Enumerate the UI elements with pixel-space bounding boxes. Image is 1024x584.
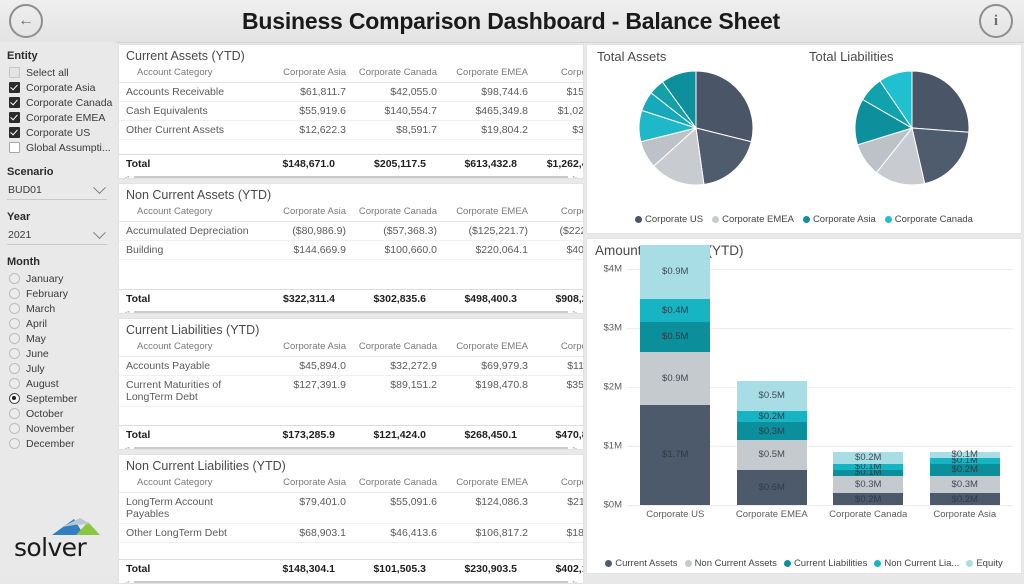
pie-legend-item[interactable]: Corporate EMEA	[712, 214, 794, 225]
table-total-cell: $230,903.5	[431, 560, 522, 579]
table-total-cell: Total	[119, 560, 249, 579]
table-cell: Current Maturities of LongTerm Debt	[119, 376, 260, 407]
bar-chart-legend: Current AssetsNon Current AssetsCurrent …	[587, 558, 1021, 569]
bar-legend-item[interactable]: Current Liabilities	[784, 558, 867, 569]
table-total-cell: $302,835.6	[340, 290, 431, 309]
legend-label: Corporate Canada	[895, 214, 973, 225]
table-cell: Accounts Payable	[119, 357, 260, 376]
table-cell: $186,981.7	[533, 524, 583, 543]
entity-option-corporate-emea[interactable]: Corporate EMEA	[9, 110, 116, 125]
table-cell: Accumulated Depreciation	[119, 222, 260, 241]
horizontal-scrollbar[interactable]: ◁▷	[119, 444, 583, 450]
radio-icon[interactable]	[9, 438, 20, 449]
entity-option-label: Select all	[26, 67, 69, 79]
pie-legend-item[interactable]: Corporate US	[635, 214, 703, 225]
table-cell: $98,744.6	[442, 83, 533, 102]
column-header[interactable]: Corporate US	[533, 475, 583, 493]
table-header-row: Account CategoryCorporate AsiaCorporate …	[119, 339, 583, 357]
bar-stack[interactable]: $0.2M$0.3M$0.1M$0.1M$0.2M	[833, 269, 903, 505]
month-option-label: May	[26, 333, 46, 345]
pie-legend-item[interactable]: Corporate Canada	[885, 214, 973, 225]
column-header[interactable]: Corporate Canada	[351, 65, 442, 83]
gridline	[627, 505, 1013, 506]
table-total-row: Total$322,311.4$302,835.6$498,400.3$908,…	[119, 290, 584, 309]
table-total-cell: $173,285.9	[249, 426, 340, 445]
table-total-cell: $402,193.3	[522, 560, 584, 579]
table-cell: $151,845.3	[533, 83, 583, 102]
table-total-cell: $101,505.3	[340, 560, 431, 579]
table-cell: $8,591.7	[351, 121, 442, 140]
total-assets-pie[interactable]	[639, 71, 753, 188]
data-table[interactable]: Account CategoryCorporate AsiaCorporate …	[119, 65, 583, 140]
month-option-january[interactable]: January	[9, 271, 116, 286]
filter-sidebar: Entity Select all Corporate Asia Corpora…	[0, 42, 116, 576]
entity-option-corporate-asia[interactable]: Corporate Asia	[9, 80, 116, 95]
table-total-cell: Total	[119, 155, 249, 174]
table-total-cell: Total	[119, 426, 249, 445]
table-card-1: Non Current Assets (YTD)Account Category…	[118, 183, 584, 314]
bar-legend-item[interactable]: Non Current Lia...	[874, 558, 959, 569]
table-row[interactable]: LongTerm Account Payables$79,401.0$55,09…	[119, 493, 583, 524]
legend-label: Corporate US	[645, 214, 703, 225]
scroll-left-arrow-icon[interactable]: ◁	[123, 446, 129, 451]
table-cell: ($222,744.4)	[533, 222, 583, 241]
legend-color-dot	[803, 216, 810, 223]
bar-segment-label: $0.9M	[662, 373, 688, 384]
table-total-cell: $148,304.1	[249, 560, 340, 579]
table-title: Current Liabilities (YTD)	[119, 319, 583, 339]
month-option-label: August	[26, 378, 59, 390]
month-option-september[interactable]: September	[9, 391, 116, 406]
y-axis-tick: $3M	[604, 323, 622, 334]
column-header[interactable]: Corporate US	[533, 339, 583, 357]
bar-segment[interactable]: $0.3M	[737, 422, 807, 440]
x-axis-label: Corporate Asia	[916, 509, 1014, 520]
legend-color-dot	[784, 560, 791, 567]
table-cell: $61,811.7	[260, 83, 351, 102]
legend-label: Corporate EMEA	[722, 214, 794, 225]
column-header[interactable]: Corporate EMEA	[442, 204, 533, 222]
entity-option-label: Global Assumpti...	[26, 142, 111, 154]
tables-column: Current Assets (YTD)Account CategoryCorp…	[118, 44, 584, 574]
bar-stack[interactable]: $0.2M$0.3M$0.2M$0.1M$0.1M	[930, 269, 1000, 505]
solver-logo: solver	[14, 516, 106, 562]
column-header[interactable]: Account Category	[119, 475, 260, 493]
bar-segment[interactable]: $0.5M	[737, 381, 807, 411]
entity-option-label: Corporate US	[26, 127, 90, 139]
legend-color-dot	[712, 216, 719, 223]
bar-segment-label: $0.2M	[759, 411, 785, 422]
legend-color-dot	[635, 216, 642, 223]
table-header-row: Account CategoryCorporate AsiaCorporate …	[119, 65, 583, 83]
table-total-cell: $121,424.0	[340, 426, 431, 445]
table-cell: $89,151.2	[351, 376, 442, 407]
scenario-dropdown[interactable]: BUD01	[7, 181, 107, 200]
bar-segment[interactable]: $0.2M	[833, 493, 903, 505]
pies-card: Total Assets Total Liabilities Corporate…	[586, 44, 1022, 234]
table-total-cell: $908,250.7	[522, 290, 584, 309]
table-scroll-area[interactable]: Account CategoryCorporate AsiaCorporate …	[119, 204, 583, 289]
table-row[interactable]: Cash Equivalents$55,919.6$140,554.7$465,…	[119, 102, 583, 121]
bar-segment[interactable]: $0.5M	[640, 322, 710, 352]
radio-icon[interactable]	[9, 333, 20, 344]
month-option-list: JanuaryFebruaryMarchAprilMayJuneJulyAugu…	[7, 271, 116, 451]
legend-label: Equity	[976, 558, 1002, 569]
bar-segment-label: $0.5M	[759, 449, 785, 460]
table-cell: $46,413.6	[351, 524, 442, 543]
month-option-label: November	[26, 423, 74, 435]
horizontal-scrollbar[interactable]: ◁▷	[119, 308, 583, 314]
table-cell: $215,211.6	[533, 493, 583, 524]
bar-segment[interactable]: $0.2M	[833, 452, 903, 464]
table-total-row: Total$148,671.0$205,117.5$613,432.8$1,26…	[119, 155, 584, 174]
table-cell: ($80,986.9)	[260, 222, 351, 241]
table-cell: $55,091.6	[351, 493, 442, 524]
scenario-value: BUD01	[8, 184, 42, 196]
table-card-0: Current Assets (YTD)Account CategoryCorp…	[118, 44, 584, 179]
table-total-cell: $148,671.0	[249, 155, 340, 174]
horizontal-scrollbar[interactable]: ◁▷	[119, 173, 583, 179]
month-option-june[interactable]: June	[9, 346, 116, 361]
month-option-october[interactable]: October	[9, 406, 116, 421]
table-cell: $19,804.2	[442, 121, 533, 140]
month-option-november[interactable]: November	[9, 421, 116, 436]
bar-segment[interactable]: $0.1M	[833, 464, 903, 470]
checkbox-icon[interactable]	[9, 82, 20, 93]
entity-option-label: Corporate Canada	[26, 97, 112, 109]
table-cell: ($125,221.7)	[442, 222, 533, 241]
table-row[interactable]: Building$144,669.9$100,660.0$220,064.1$4…	[119, 241, 583, 260]
column-header[interactable]: Corporate US	[533, 65, 583, 83]
table-cell: Other Current Assets	[119, 121, 260, 140]
table-total-table: Total$148,671.0$205,117.5$613,432.8$1,26…	[119, 154, 584, 173]
radio-icon[interactable]	[9, 273, 20, 284]
month-option-december[interactable]: December	[9, 436, 116, 451]
bar-legend-item[interactable]: Current Assets	[605, 558, 677, 569]
entity-option-global-assumptions[interactable]: Global Assumpti...	[9, 140, 116, 155]
table-cell: $79,401.0	[260, 493, 351, 524]
table-row[interactable]: Accumulated Depreciation($80,986.9)($57,…	[119, 222, 583, 241]
table-title: Non Current Assets (YTD)	[119, 184, 583, 204]
x-axis-label: Corporate EMEA	[723, 509, 821, 520]
checkbox-icon[interactable]	[9, 97, 20, 108]
table-cell: $106,817.2	[442, 524, 533, 543]
bar-segment[interactable]: $0.1M	[930, 452, 1000, 458]
month-option-label: July	[26, 363, 45, 375]
month-option-april[interactable]: April	[9, 316, 116, 331]
table-total-cell: Total	[119, 290, 249, 309]
back-arrow-icon[interactable]: ←	[9, 4, 43, 38]
table-total-table: Total$322,311.4$302,835.6$498,400.3$908,…	[119, 289, 584, 308]
total-liabilities-pie[interactable]	[855, 71, 969, 188]
radio-icon[interactable]	[9, 363, 20, 374]
month-option-july[interactable]: July	[9, 361, 116, 376]
table-total-table: Total$148,304.1$101,505.3$230,903.5$402,…	[119, 559, 584, 578]
bar-segment-label: $0.5M	[759, 390, 785, 401]
table-scroll-area[interactable]: Account CategoryCorporate AsiaCorporate …	[119, 339, 583, 425]
table-cell: $55,919.6	[260, 102, 351, 121]
bar-stack[interactable]: $1.7M$0.9M$0.5M$0.4M$0.9M	[640, 269, 710, 505]
bar-legend-item[interactable]: Non Current Assets	[685, 558, 777, 569]
y-axis-tick: $2M	[604, 382, 622, 393]
year-dropdown[interactable]: 2021	[7, 226, 107, 245]
bar-segment-label: $0.6M	[759, 482, 785, 493]
table-cell: $32,272.9	[351, 357, 442, 376]
legend-color-dot	[605, 560, 612, 567]
entity-option-corporate-canada[interactable]: Corporate Canada	[9, 95, 116, 110]
scrollbar-thumb[interactable]	[134, 311, 568, 314]
bar-segment-label: $0.2M	[855, 452, 881, 463]
legend-color-dot	[685, 560, 692, 567]
bar-segment[interactable]: $0.9M	[640, 352, 710, 405]
month-option-label: February	[26, 288, 68, 300]
table-row[interactable]: Other LongTerm Debt$68,903.1$46,413.6$10…	[119, 524, 583, 543]
dashboard-root: ← Business Comparison Dashboard - Balanc…	[0, 0, 1024, 576]
chevron-down-icon[interactable]	[93, 181, 106, 194]
bar-segment[interactable]: $0.5M	[737, 440, 807, 470]
month-option-label: March	[26, 303, 55, 315]
scroll-right-arrow-icon[interactable]: ▷	[573, 310, 579, 315]
column-header[interactable]: Corporate Asia	[260, 475, 351, 493]
column-header[interactable]: Corporate Asia	[260, 65, 351, 83]
x-axis-label: Corporate Canada	[819, 509, 917, 520]
table-header-row: Account CategoryCorporate AsiaCorporate …	[119, 204, 583, 222]
month-option-august[interactable]: August	[9, 376, 116, 391]
bar-legend-item[interactable]: Equity	[966, 558, 1002, 569]
bar-segment[interactable]: $0.4M	[640, 299, 710, 323]
table-card-2: Current Liabilities (YTD)Account Categor…	[118, 318, 584, 450]
legend-label: Non Current Lia...	[884, 558, 959, 569]
table-title: Current Assets (YTD)	[119, 45, 583, 65]
solver-logo-text: solver	[14, 533, 86, 562]
table-cell: $12,622.3	[260, 121, 351, 140]
table-cell: $42,055.0	[351, 83, 442, 102]
right-column: Total Assets Total Liabilities Corporate…	[586, 44, 1022, 574]
column-header[interactable]: Corporate Asia	[260, 339, 351, 357]
radio-icon[interactable]	[9, 408, 20, 419]
radio-icon[interactable]	[9, 378, 20, 389]
month-option-label: September	[26, 393, 77, 405]
column-header[interactable]: Account Category	[119, 339, 260, 357]
chevron-down-icon[interactable]	[93, 226, 106, 239]
column-header[interactable]: Account Category	[119, 65, 260, 83]
year-value: 2021	[8, 229, 31, 241]
legend-color-dot	[885, 216, 892, 223]
data-table[interactable]: Account CategoryCorporate AsiaCorporate …	[119, 204, 583, 260]
bar-segment[interactable]: $0.9M	[640, 245, 710, 298]
legend-label: Current Liabilities	[794, 558, 867, 569]
bar-segment-label: $0.9M	[662, 266, 688, 277]
legend-label: Non Current Assets	[695, 558, 777, 569]
scrollbar-thumb[interactable]	[134, 176, 568, 179]
table-cell: $127,391.9	[260, 376, 351, 407]
legend-color-dot	[874, 560, 881, 567]
pie-legend-item[interactable]: Corporate Asia	[803, 214, 876, 225]
column-header[interactable]: Corporate Canada	[351, 339, 442, 357]
table-cell: $100,660.0	[351, 241, 442, 260]
bar-segment-label: $1.7M	[662, 449, 688, 460]
table-cell: $124,086.3	[442, 493, 533, 524]
entity-option-list: Select all Corporate Asia Corporate Cana…	[7, 65, 116, 155]
scroll-right-arrow-icon[interactable]: ▷	[573, 446, 579, 451]
scroll-right-arrow-icon[interactable]: ▷	[573, 580, 579, 584]
column-header[interactable]: Corporate EMEA	[442, 475, 533, 493]
column-header[interactable]: Corporate EMEA	[442, 65, 533, 83]
column-header[interactable]: Corporate Canada	[351, 475, 442, 493]
bar-segment[interactable]: $1.7M	[640, 405, 710, 505]
column-header[interactable]: Corporate Canada	[351, 204, 442, 222]
scenario-filter-label: Scenario	[7, 166, 116, 178]
bar-segment-label: $0.2M	[952, 494, 978, 505]
total-liabilities-title: Total Liabilities	[809, 49, 894, 64]
entity-option-label: Corporate EMEA	[26, 112, 105, 124]
table-cell: Other LongTerm Debt	[119, 524, 260, 543]
table-total-cell: $470,836.2	[522, 426, 584, 445]
month-option-february[interactable]: February	[9, 286, 116, 301]
pie-legend: Corporate USCorporate EMEACorporate Asia…	[587, 214, 1021, 225]
legend-color-dot	[966, 560, 973, 567]
horizontal-scrollbar[interactable]: ◁▷	[119, 578, 583, 584]
table-header-row: Account CategoryCorporate AsiaCorporate …	[119, 475, 583, 493]
radio-icon[interactable]	[9, 423, 20, 434]
table-card-3: Non Current Liabilities (YTD)Account Cat…	[118, 454, 584, 584]
amounts-by-entity-card: Amounts by Entity (YTD) $0M$1M$2M$3M$4M$…	[586, 238, 1022, 574]
checkbox-icon[interactable]	[9, 67, 20, 78]
table-row[interactable]: Accounts Payable$45,894.0$32,272.9$69,97…	[119, 357, 583, 376]
year-filter-label: Year	[7, 211, 116, 223]
entity-filter-label: Entity	[7, 50, 116, 62]
table-cell: Building	[119, 241, 260, 260]
bar-segment[interactable]: $0.2M	[737, 411, 807, 423]
table-cell: $405,194.5	[533, 241, 583, 260]
bar-segment[interactable]: $0.6M	[737, 470, 807, 505]
scrollbar-thumb[interactable]	[134, 447, 568, 450]
table-total-cell: $268,450.1	[431, 426, 522, 445]
bar-segment-label: $0.3M	[952, 479, 978, 490]
entity-option-corporate-us[interactable]: Corporate US	[9, 125, 116, 140]
y-axis-tick: $0M	[604, 500, 622, 511]
month-option-label: April	[26, 318, 47, 330]
month-option-march[interactable]: March	[9, 301, 116, 316]
radio-icon[interactable]	[9, 348, 20, 359]
table-cell: $198,470.8	[442, 376, 533, 407]
bar-segment[interactable]: $0.3M	[833, 476, 903, 494]
scroll-left-arrow-icon[interactable]: ◁	[123, 580, 129, 584]
radio-icon[interactable]	[9, 288, 20, 299]
table-cell: $69,979.3	[442, 357, 533, 376]
info-icon[interactable]: i	[979, 4, 1013, 38]
legend-label: Corporate Asia	[813, 214, 876, 225]
checkbox-icon[interactable]	[9, 142, 20, 153]
radio-icon[interactable]	[9, 318, 20, 329]
total-assets-title: Total Assets	[597, 49, 666, 64]
table-cell: $1,027,217.7	[533, 102, 583, 121]
table-total-row: Total$173,285.9$121,424.0$268,450.1$470,…	[119, 426, 584, 445]
table-cell: $140,554.7	[351, 102, 442, 121]
column-header[interactable]: Corporate Asia	[260, 204, 351, 222]
month-option-label: January	[26, 273, 63, 285]
table-total-cell: $613,432.8	[431, 155, 522, 174]
table-row[interactable]: Current Maturities of LongTerm Debt$127,…	[119, 376, 583, 407]
table-cell: LongTerm Account Payables	[119, 493, 260, 524]
scroll-right-arrow-icon[interactable]: ▷	[573, 175, 579, 180]
table-cell: ($57,368.3)	[351, 222, 442, 241]
radio-icon[interactable]	[9, 393, 20, 404]
table-cell: $353,363.3	[533, 376, 583, 407]
data-table[interactable]: Account CategoryCorporate AsiaCorporate …	[119, 339, 583, 407]
bar-segment[interactable]: $0.2M	[930, 493, 1000, 505]
bar-segment-label: $0.1M	[952, 449, 978, 460]
table-cell: Accounts Receivable	[119, 83, 260, 102]
bar-segment[interactable]: $0.3M	[930, 476, 1000, 494]
month-option-label: October	[26, 408, 63, 420]
month-option-label: December	[26, 438, 74, 450]
scroll-left-arrow-icon[interactable]: ◁	[123, 175, 129, 180]
table-total-cell: $1,262,431.9	[522, 155, 584, 174]
table-total-cell: $205,117.5	[340, 155, 431, 174]
column-header[interactable]: Corporate EMEA	[442, 339, 533, 357]
checkbox-icon[interactable]	[9, 127, 20, 138]
table-row[interactable]: Other Current Assets$12,622.3$8,591.7$19…	[119, 121, 583, 140]
table-cell: Cash Equivalents	[119, 102, 260, 121]
table-cell: $220,064.1	[442, 241, 533, 260]
month-filter-label: Month	[7, 256, 116, 268]
table-cell: $465,349.8	[442, 102, 533, 121]
table-total-row: Total$148,304.1$101,505.3$230,903.5$402,…	[119, 560, 584, 579]
table-title: Non Current Liabilities (YTD)	[119, 455, 583, 475]
table-scroll-area[interactable]: Account CategoryCorporate AsiaCorporate …	[119, 475, 583, 559]
radio-icon[interactable]	[9, 303, 20, 314]
table-total-cell: $322,311.4	[249, 290, 340, 309]
table-row[interactable]: Accounts Receivable$61,811.7$42,055.0$98…	[119, 83, 583, 102]
table-cell: $45,894.0	[260, 357, 351, 376]
y-axis-tick: $4M	[604, 264, 622, 275]
table-cell: $117,472.8	[533, 357, 583, 376]
page-title: Business Comparison Dashboard - Balance …	[43, 8, 979, 35]
x-axis-label: Corporate US	[626, 509, 724, 520]
data-table[interactable]: Account CategoryCorporate AsiaCorporate …	[119, 475, 583, 543]
month-option-label: June	[26, 348, 49, 360]
table-total-table: Total$173,285.9$121,424.0$268,450.1$470,…	[119, 425, 584, 444]
checkbox-icon[interactable]	[9, 112, 20, 123]
column-header[interactable]: Account Category	[119, 204, 260, 222]
y-axis-tick: $1M	[604, 441, 622, 452]
bar-stack[interactable]: $0.6M$0.5M$0.3M$0.2M$0.5M	[737, 269, 807, 505]
table-cell: $34,242.8	[533, 121, 583, 140]
bar-segment-label: $0.2M	[855, 494, 881, 505]
bar-segment-label: $0.3M	[855, 479, 881, 490]
app-header: ← Business Comparison Dashboard - Balanc…	[0, 0, 1024, 43]
column-header[interactable]: Corporate US	[533, 204, 583, 222]
bar-segment-label: $0.4M	[662, 305, 688, 316]
scroll-left-arrow-icon[interactable]: ◁	[123, 310, 129, 315]
table-cell: $68,903.1	[260, 524, 351, 543]
bar-segment-label: $0.3M	[759, 426, 785, 437]
entity-option-label: Corporate Asia	[26, 82, 95, 94]
table-cell: $144,669.9	[260, 241, 351, 260]
table-total-cell: $498,400.3	[431, 290, 522, 309]
entity-option-select-all[interactable]: Select all	[9, 65, 116, 80]
table-scroll-area[interactable]: Account CategoryCorporate AsiaCorporate …	[119, 65, 583, 154]
bar-chart-plot[interactable]: $0M$1M$2M$3M$4M$1.7M$0.9M$0.5M$0.4M$0.9M…	[627, 269, 1013, 505]
month-option-may[interactable]: May	[9, 331, 116, 346]
legend-label: Current Assets	[615, 558, 677, 569]
bar-segment-label: $0.5M	[662, 331, 688, 342]
